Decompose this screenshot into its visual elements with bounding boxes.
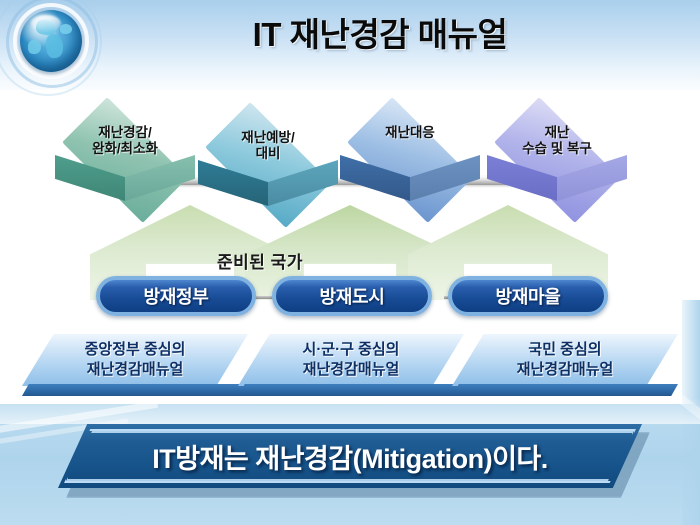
conclusion-banner-text: IT방재는 재난경감(Mitigation)이다. (58, 437, 642, 476)
manual-panel-central-government[interactable]: 중앙정부 중심의 재난경감매뉴얼 (22, 334, 248, 396)
page-title: IT 재난경감 매뉴얼 (120, 8, 640, 56)
manual-label: 중앙정부 중심의 재난경감매뉴얼 (22, 340, 248, 379)
pillar-village[interactable]: 방재마을 (448, 276, 608, 316)
phase-block-recovery[interactable]: 재난 수습 및 복구 (487, 103, 627, 215)
globe-icon (4, 2, 96, 88)
phase-label: 재난 수습 및 복구 (487, 125, 627, 156)
phase-block-prevention[interactable]: 재난예방/ 대비 (198, 108, 338, 220)
pillar-label: 방재정부 (143, 283, 208, 309)
phase-block-response[interactable]: 재난대응 (340, 103, 480, 215)
cube-top-face (347, 97, 473, 223)
arrow-caption: 준비된 국가 (150, 248, 370, 273)
cube-top-face (62, 97, 188, 223)
manual-label: 시·군·구 중심의 재난경감매뉴얼 (238, 340, 464, 379)
pillar-government[interactable]: 방재정부 (96, 276, 256, 316)
phase-label: 재난대응 (340, 125, 480, 141)
globe-highlight (31, 15, 61, 32)
pillar-label: 방재도시 (319, 283, 384, 309)
pillar-city[interactable]: 방재도시 (272, 276, 432, 316)
manual-panel-local-government[interactable]: 시·군·구 중심의 재난경감매뉴얼 (238, 334, 464, 396)
phase-label: 재난경감/ 완화/최소화 (55, 125, 195, 156)
panel-base (452, 384, 678, 396)
globe-sphere (20, 10, 82, 72)
panel-base (238, 384, 464, 396)
phase-block-mitigation[interactable]: 재난경감/ 완화/최소화 (55, 103, 195, 215)
cube-top-face (494, 97, 620, 223)
manual-panel-citizen[interactable]: 국민 중심의 재난경감매뉴얼 (452, 334, 678, 396)
slide-canvas: IT 재난경감 매뉴얼 재난경감/ 완화/최소화 재난예방/ 대비 재난대응 재… (0, 0, 700, 525)
phase-label: 재난예방/ 대비 (198, 130, 338, 161)
manual-label: 국민 중심의 재난경감매뉴얼 (452, 340, 678, 379)
globe-landmass (60, 24, 72, 34)
globe-landmass (44, 33, 64, 59)
panel-base (22, 384, 248, 396)
pillar-label: 방재마을 (495, 283, 560, 309)
globe-landmass (28, 40, 41, 54)
